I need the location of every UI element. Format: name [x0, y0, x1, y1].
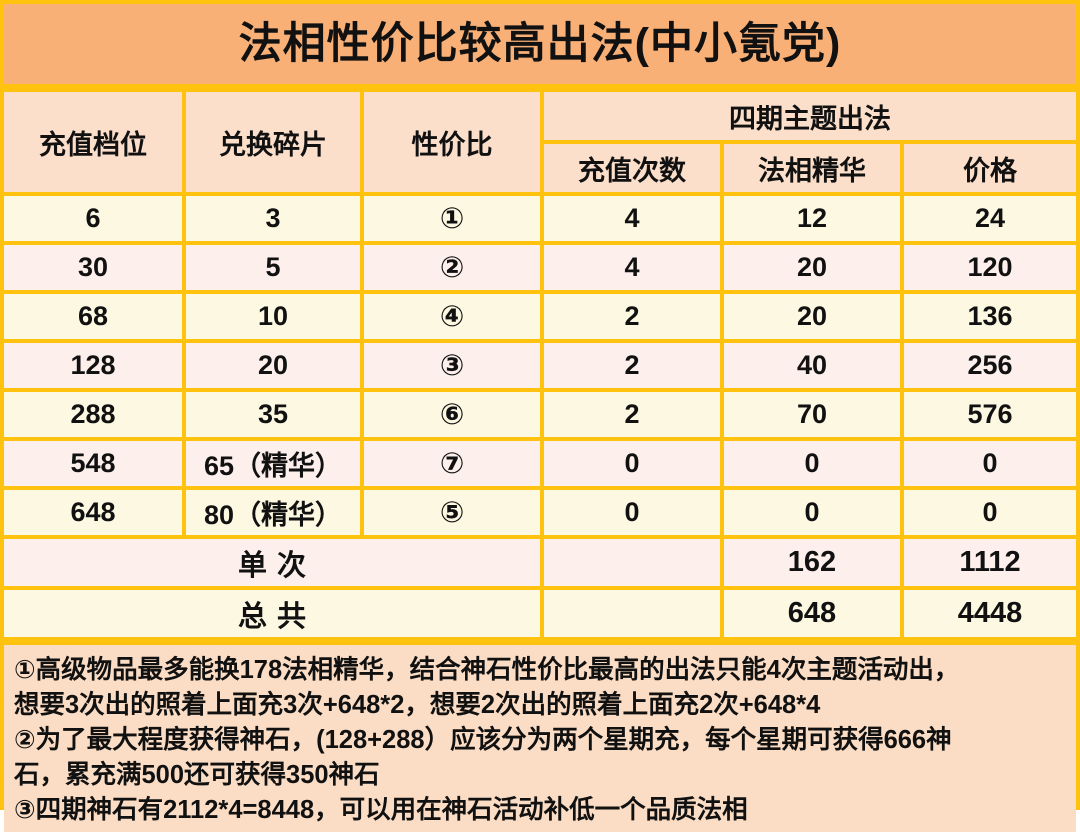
- cell-essence: 12: [722, 194, 902, 243]
- cell-shards: 65（精华）: [184, 439, 362, 488]
- header-charge-tier: 充值档位: [4, 90, 184, 194]
- cell-times: 4: [542, 243, 722, 292]
- cell-rank: ④: [362, 292, 542, 341]
- cell-essence: 0: [722, 488, 902, 537]
- summary-row-single: 单次 162 1112: [4, 537, 1076, 588]
- summary-times-total: [542, 588, 722, 639]
- cell-shards: 20: [184, 341, 362, 390]
- cell-tier: 6: [4, 194, 184, 243]
- table-head: 充值档位 兑换碎片 性价比 四期主题出法 充值次数 法相精华 价格: [4, 90, 1076, 194]
- cell-tier: 68: [4, 292, 184, 341]
- summary-essence-total: 648: [722, 588, 902, 639]
- cell-tier: 288: [4, 390, 184, 439]
- table-row: 30 5 ② 4 20 120: [4, 243, 1076, 292]
- summary-times-single: [542, 537, 722, 588]
- header-row-1: 充值档位 兑换碎片 性价比 四期主题出法: [4, 90, 1076, 142]
- table-row: 68 10 ④ 2 20 136: [4, 292, 1076, 341]
- table-row: 648 80（精华） ⑤ 0 0 0: [4, 488, 1076, 537]
- cell-rank: ⑤: [362, 488, 542, 537]
- cell-rank: ⑦: [362, 439, 542, 488]
- cell-tier: 128: [4, 341, 184, 390]
- cell-tier: 648: [4, 488, 184, 537]
- summary-row-total: 总共 648 4448: [4, 588, 1076, 639]
- cell-essence: 0: [722, 439, 902, 488]
- header-group-four-phase: 四期主题出法: [542, 90, 1076, 142]
- table-title-bar: 法相性价比较高出法(中小氪党): [4, 4, 1076, 84]
- cell-essence: 20: [722, 243, 902, 292]
- cell-price: 0: [902, 488, 1076, 537]
- cell-rank: ③: [362, 341, 542, 390]
- header-charge-times: 充值次数: [542, 142, 722, 194]
- header-essence: 法相精华: [722, 142, 902, 194]
- table-row: 128 20 ③ 2 40 256: [4, 341, 1076, 390]
- cell-times: 2: [542, 341, 722, 390]
- summary-price-total: 4448: [902, 588, 1076, 639]
- summary-label-total: 总共: [4, 588, 542, 639]
- cell-essence: 40: [722, 341, 902, 390]
- cell-shards: 5: [184, 243, 362, 292]
- table-body: 6 3 ① 4 12 24 30 5 ② 4 20 120 68 1: [4, 194, 1076, 639]
- cell-shards: 35: [184, 390, 362, 439]
- cell-rank: ②: [362, 243, 542, 292]
- cell-shards: 3: [184, 194, 362, 243]
- cell-price: 576: [902, 390, 1076, 439]
- cell-price: 136: [902, 292, 1076, 341]
- footnote-line: ①高级物品最多能换178法相精华，结合神石性价比最高的出法只能4次主题活动出，: [14, 653, 1066, 688]
- table-row: 288 35 ⑥ 2 70 576: [4, 390, 1076, 439]
- cell-times: 0: [542, 488, 722, 537]
- summary-label-single: 单次: [4, 537, 542, 588]
- cell-shards: 10: [184, 292, 362, 341]
- cell-price: 256: [902, 341, 1076, 390]
- cell-price: 0: [902, 439, 1076, 488]
- cell-times: 2: [542, 292, 722, 341]
- spreadsheet-sheet: 法相性价比较高出法(中小氪党) 充值档位 兑换碎片 性价比 四期主题出法 充值次…: [0, 0, 1080, 810]
- pricing-table-container: 充值档位 兑换碎片 性价比 四期主题出法 充值次数 法相精华 价格 6 3 ① …: [4, 88, 1076, 641]
- header-price: 价格: [902, 142, 1076, 194]
- summary-price-single: 1112: [902, 537, 1076, 588]
- page-title: 法相性价比较高出法(中小氪党): [239, 23, 842, 66]
- footnote-line: 想要3次出的照着上面充3次+648*2，想要2次出的照着上面充2次+648*4: [14, 688, 1066, 723]
- header-exchange-shards: 兑换碎片: [184, 90, 362, 194]
- footnote-line: ③四期神石有2112*4=8448，可以用在神石活动补低一个品质法相: [14, 793, 1066, 828]
- cell-times: 4: [542, 194, 722, 243]
- cell-shards: 80（精华）: [184, 488, 362, 537]
- cell-rank: ⑥: [362, 390, 542, 439]
- pricing-table: 充值档位 兑换碎片 性价比 四期主题出法 充值次数 法相精华 价格 6 3 ① …: [4, 88, 1076, 641]
- cell-essence: 70: [722, 390, 902, 439]
- cell-times: 0: [542, 439, 722, 488]
- header-value-ratio: 性价比: [362, 90, 542, 194]
- cell-tier: 548: [4, 439, 184, 488]
- table-row: 548 65（精华） ⑦ 0 0 0: [4, 439, 1076, 488]
- cell-price: 120: [902, 243, 1076, 292]
- footnote-line: 石，累充满500还可获得350神石: [14, 758, 1066, 793]
- cell-rank: ①: [362, 194, 542, 243]
- footnotes-panel: ①高级物品最多能换178法相精华，结合神石性价比最高的出法只能4次主题活动出， …: [4, 645, 1076, 832]
- table-row: 6 3 ① 4 12 24: [4, 194, 1076, 243]
- cell-price: 24: [902, 194, 1076, 243]
- summary-essence-single: 162: [722, 537, 902, 588]
- cell-essence: 20: [722, 292, 902, 341]
- footnote-line: ②为了最大程度获得神石，(128+288）应该分为两个星期充，每个星期可获得66…: [14, 723, 1066, 758]
- cell-times: 2: [542, 390, 722, 439]
- cell-tier: 30: [4, 243, 184, 292]
